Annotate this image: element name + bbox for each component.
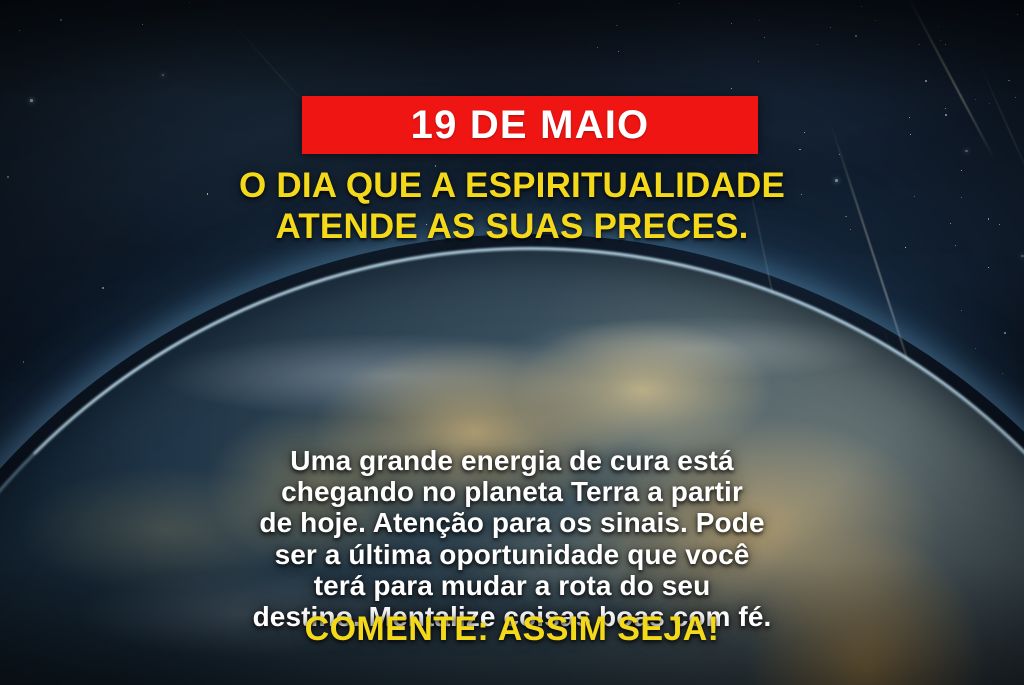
body-copy: Uma grande energia de cura está chegando… — [0, 445, 1024, 632]
poster-image: 19 DE MAIO O DIA QUE A ESPIRITUALIDADE A… — [0, 0, 1024, 685]
body-copy-line-3: de hoje. Atenção para os sinais. Pode — [52, 507, 972, 538]
body-copy-line-5: terá para mudar a rota do seu — [52, 570, 972, 601]
headline-line-2: ATENDE AS SUAS PRECES. — [40, 207, 984, 248]
date-banner-text: 19 DE MAIO — [411, 105, 650, 145]
date-banner: 19 DE MAIO — [302, 96, 758, 154]
poster-content: 19 DE MAIO O DIA QUE A ESPIRITUALIDADE A… — [0, 0, 1024, 685]
body-copy-line-1: Uma grande energia de cura está — [52, 445, 972, 476]
headline: O DIA QUE A ESPIRITUALIDADE ATENDE AS SU… — [0, 166, 1024, 248]
body-copy-line-4: ser a última oportunidade que você — [52, 539, 972, 570]
body-copy-line-2: chegando no planeta Terra a partir — [52, 476, 972, 507]
headline-line-1: O DIA QUE A ESPIRITUALIDADE — [40, 166, 984, 207]
call-to-action-text: COMENTE: ASSIM SEJA! — [0, 612, 1024, 646]
